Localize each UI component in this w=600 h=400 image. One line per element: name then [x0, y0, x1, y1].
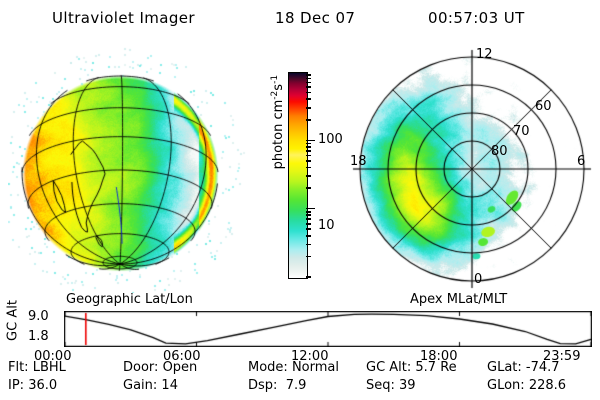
gcalt-value: 5.7 Re [415, 360, 456, 375]
colorbar-tick-label-10: 10 [318, 218, 335, 233]
mlat-label-60: 60 [535, 99, 552, 114]
gain-field: Gain: 14 [123, 378, 178, 393]
gcalt-label: GC Alt: [366, 360, 411, 375]
door-value: Open [163, 360, 198, 375]
glon-value: 228.6 [529, 378, 566, 393]
seq-label: Seq: [366, 378, 395, 393]
glon-field: GLon: 228.6 [487, 378, 566, 393]
mlt-label-18: 18 [350, 154, 367, 169]
door-field: Door: Open [123, 360, 197, 375]
flt-field: Flt: LBHL [8, 360, 66, 375]
dsp-field: Dsp: 7.9 [248, 378, 306, 393]
mlat-label-70: 70 [513, 124, 530, 139]
orbit-altitude-strip[interactable]: GC Alt 9.0 1.8 00:00 06:00 12:00 18:00 2… [0, 307, 600, 357]
right-panel-title: Apex MLat/MLT [410, 292, 507, 307]
orbit-altitude-plot [64, 311, 592, 347]
colorbar-unit-mid: s [271, 84, 286, 91]
instrument-title: Ultraviolet Imager [52, 9, 195, 27]
orbit-y-tick-high: 9.0 [28, 309, 49, 324]
colorbar-gradient [288, 72, 308, 279]
mlt-label-0: 0 [474, 272, 482, 287]
ip-value: 36.0 [28, 378, 57, 393]
glat-field: GLat: -74.7 [487, 360, 560, 375]
mlat-label-80: 80 [491, 144, 508, 159]
mode-label: Mode: [248, 360, 288, 375]
dsp-label: Dsp: [248, 378, 277, 393]
colorbar-tick-marks [306, 72, 316, 277]
status-footer: Flt: LBHL IP: 36.0 Door: Open Gain: 14 M… [0, 360, 600, 398]
colorbar-axis-title: photon cm-2s-1 [270, 52, 286, 192]
header-bar: Ultraviolet Imager 18 Dec 07 00:57:03 UT [0, 6, 600, 32]
glon-label: GLon: [487, 378, 525, 393]
gain-value: 14 [161, 378, 178, 393]
orbit-y-axis-label: GC Alt [6, 296, 21, 346]
seq-field: Seq: 39 [366, 378, 416, 393]
mlt-label-12: 12 [476, 47, 493, 62]
mode-value: Normal [292, 360, 339, 375]
orbit-y-tick-low: 1.8 [28, 329, 49, 344]
apex-polar-panel[interactable]: 12 18 6 0 60 70 80 [348, 44, 596, 294]
observation-time: 00:57:03 UT [428, 9, 525, 27]
ip-label: IP: [8, 378, 24, 393]
dsp-value: 7.9 [286, 378, 307, 393]
mode-field: Mode: Normal [248, 360, 339, 375]
geographic-globe-panel[interactable] [8, 45, 253, 293]
colorbar-unit-exp1: -2 [270, 91, 280, 100]
gcalt-field: GC Alt: 5.7 Re [366, 360, 457, 375]
left-panel-title: Geographic Lat/Lon [66, 292, 193, 307]
glat-value: -74.7 [526, 360, 560, 375]
geographic-aurora-image [8, 45, 253, 293]
mlt-label-6: 6 [577, 154, 585, 169]
flt-label: Flt: [8, 360, 29, 375]
colorbar-tick-label-100: 100 [318, 132, 343, 147]
colorbar-unit-exp2: -1 [270, 75, 280, 84]
flt-value: LBHL [33, 360, 66, 375]
ip-field: IP: 36.0 [8, 378, 57, 393]
seq-value: 39 [399, 378, 416, 393]
glat-label: GLat: [487, 360, 522, 375]
colorbar-unit-main: photon cm [271, 100, 286, 170]
gain-label: Gain: [123, 378, 157, 393]
apex-aurora-image [348, 44, 596, 294]
door-label: Door: [123, 360, 158, 375]
observation-date: 18 Dec 07 [275, 9, 355, 27]
colorbar-group: photon cm-2s-1 100 10 [256, 60, 346, 292]
